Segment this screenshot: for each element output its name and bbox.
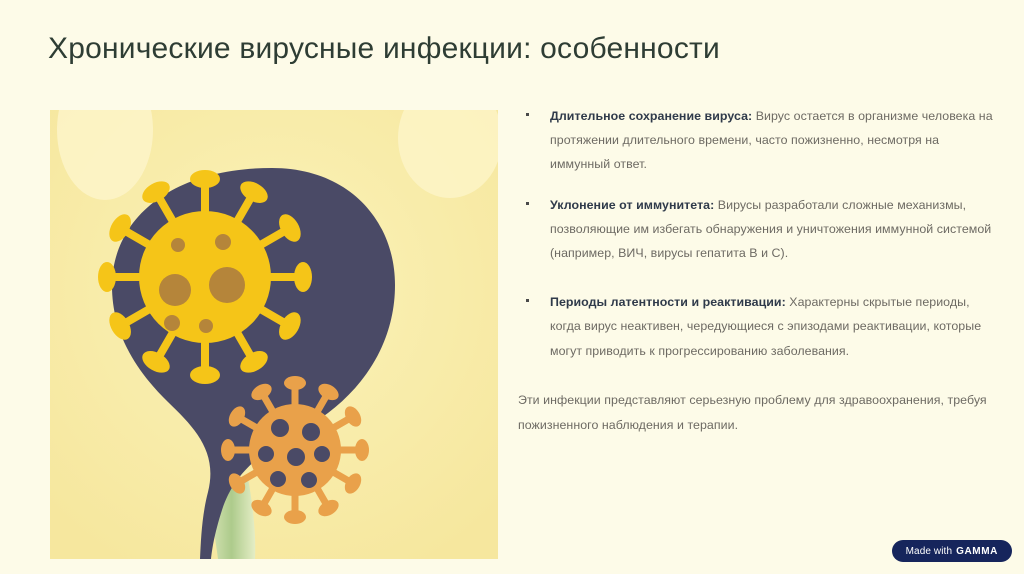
bullet-marker-icon [526,202,529,205]
slide-root: Хронические вирусные инфекции: особеннос… [0,0,1024,574]
page-title: Хронические вирусные инфекции: особеннос… [48,30,948,68]
bullet-marker-icon [526,299,529,302]
badge-prefix-label: Made with [906,546,952,557]
bullet-spacer [518,281,998,290]
bullet-lead-label: Уклонение от иммунитета: [550,198,714,212]
bullet-lead-label: Длительное сохранение вируса: [550,109,752,123]
made-with-gamma-badge[interactable]: Made with GAMMA [892,540,1012,562]
list-item: Уклонение от иммунитета: Вирусы разработ… [518,193,998,266]
closing-paragraph: Эти инфекции представляют серьезную проб… [518,388,988,438]
list-item: Периоды латентности и реактивации: Харак… [518,290,998,363]
bullet-lead-label: Периоды латентности и реактивации: [550,295,786,309]
bullet-marker-icon [526,113,529,116]
badge-brand-label: GAMMA [956,546,998,557]
bullet-content: Длительное сохранение вируса: Вирус оста… [518,104,998,363]
bullet-list: Длительное сохранение вируса: Вирус оста… [518,104,998,363]
list-item: Длительное сохранение вируса: Вирус оста… [518,104,998,177]
virus-teardrop-illustration [50,110,498,559]
illustration-panel [50,110,498,559]
